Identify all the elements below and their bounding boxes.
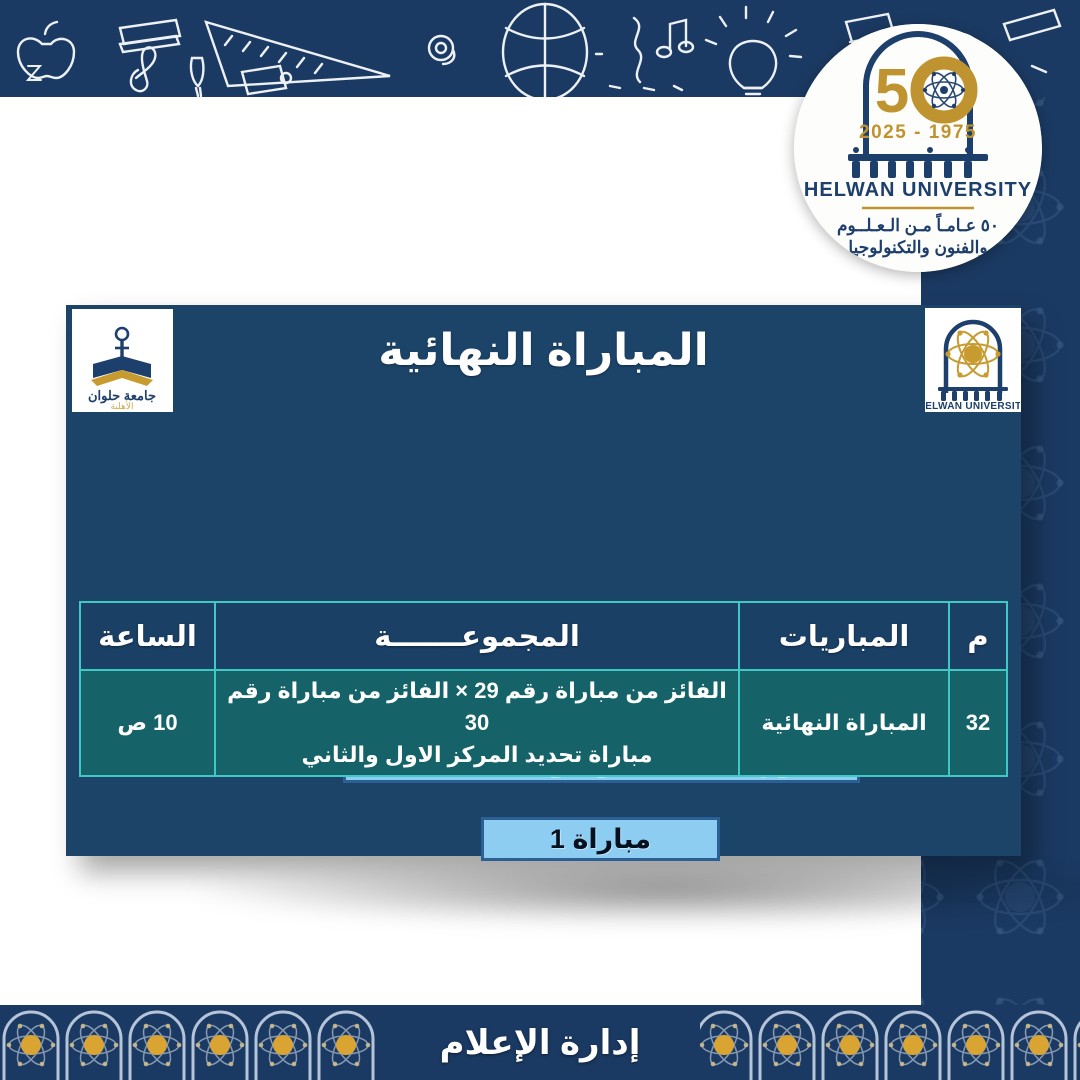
table-header-row: م المباريات المجموعـــــــة الساعة [80,602,1007,670]
column-header-time: الساعة [80,602,215,670]
svg-text:5: 5 [875,57,909,126]
card-header: جامعة حلوان الأهلية المباراة النهائية [66,305,1021,417]
anniversary-50-badge: 5 1975 - 2025 [794,24,1042,272]
media-department-footer: إدارة الإعلام [0,1005,1080,1080]
helwan-university-logo: HELWAN UNIVERSITY [925,308,1021,412]
card-title: المباراة النهائية [66,325,1021,376]
footer-label: إدارة الإعلام [0,1005,1080,1080]
badge-tagline-2: والفنون والتكنولوجيا [848,238,987,258]
column-header-num: م [949,602,1007,670]
badge-years: 1975 - 2025 [859,122,977,143]
column-header-group: المجموعـــــــة [215,602,739,670]
match-count-badge: مباراة 1 [481,817,720,861]
logo-left-sub: الأهلية [111,400,134,410]
column-header-matches: المباريات [739,602,949,670]
schedule-card: جامعة حلوان الأهلية المباراة النهائية [66,305,1021,856]
badge-tagline-1: ٥٠ عـامـاً مـن الـعـلــوم [837,212,999,236]
cell-num: 32 [949,670,1007,776]
logo-right-english: HELWAN UNIVERSITY [926,401,1020,411]
match-schedule-table: م المباريات المجموعـــــــة الساعة 32 ال… [79,601,1008,777]
cell-group: الفائز من مباراة رقم 29 × الفائز من مبار… [215,670,739,776]
cell-group-line-1: الفائز من مباراة رقم 29 × الفائز من مبار… [222,675,732,739]
cell-match: المباراة النهائية [739,670,949,776]
cell-group-line-2: مباراة تحديد المركز الاول والثاني [222,739,732,771]
cell-time: 10 ص [80,670,215,776]
table-row: 32 المباراة النهائية الفائز من مباراة رق… [80,670,1007,776]
match-count-text: مباراة 1 [550,824,651,855]
card-drop-shadow [190,855,1080,925]
badge-university-en: HELWAN UNIVERSITY [804,179,1032,201]
poster-root: 5 1975 - 2025 [0,0,1080,1080]
match-schedule-table-wrapper: م المباريات المجموعـــــــة الساعة 32 ال… [79,601,1008,777]
